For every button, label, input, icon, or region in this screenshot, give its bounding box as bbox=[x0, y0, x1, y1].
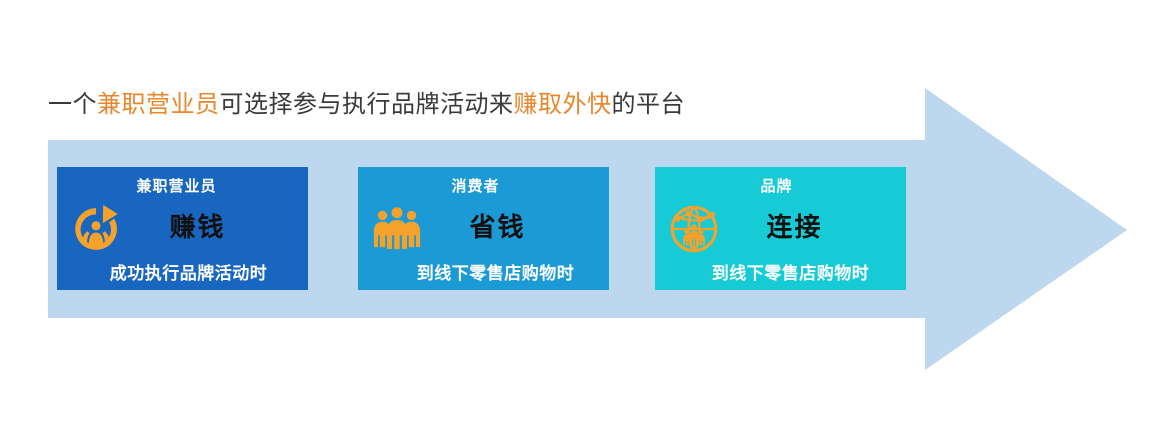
card-footer-label: 成功执行品牌活动时 bbox=[63, 259, 308, 284]
title-segment-0: 一个 bbox=[48, 91, 97, 118]
card-main-label: 省钱 bbox=[372, 207, 609, 244]
slide-canvas: 一个兼职营业员可选择参与执行品牌活动来赚取外快的平台 兼职营业员 赚钱 成功执行… bbox=[0, 0, 1150, 430]
page-title: 一个兼职营业员可选择参与执行品牌活动来赚取外快的平台 bbox=[48, 88, 685, 122]
title-segment-3-highlight: 赚取外快 bbox=[514, 91, 612, 118]
title-segment-2: 可选择参与执行品牌活动来 bbox=[220, 91, 514, 118]
title-segment-1-highlight: 兼职营业员 bbox=[97, 91, 220, 118]
card-brand[interactable]: 品牌 连接 到线下零售店购物时 bbox=[655, 167, 906, 290]
card-consumer[interactable]: 消费者 省钱 到线下零售店购物时 bbox=[358, 167, 609, 290]
card-header-label: 消费者 bbox=[358, 175, 601, 196]
card-main-label: 连接 bbox=[669, 207, 906, 244]
card-main-label: 赚钱 bbox=[72, 207, 308, 244]
card-header-label: 兼职营业员 bbox=[57, 175, 302, 196]
title-segment-4: 的平台 bbox=[612, 91, 686, 118]
card-footer-label: 到线下零售店购物时 bbox=[370, 259, 609, 284]
card-footer-label: 到线下零售店购物时 bbox=[665, 259, 906, 284]
card-part-time-clerk[interactable]: 兼职营业员 赚钱 成功执行品牌活动时 bbox=[57, 167, 308, 290]
card-header-label: 品牌 bbox=[655, 175, 902, 196]
